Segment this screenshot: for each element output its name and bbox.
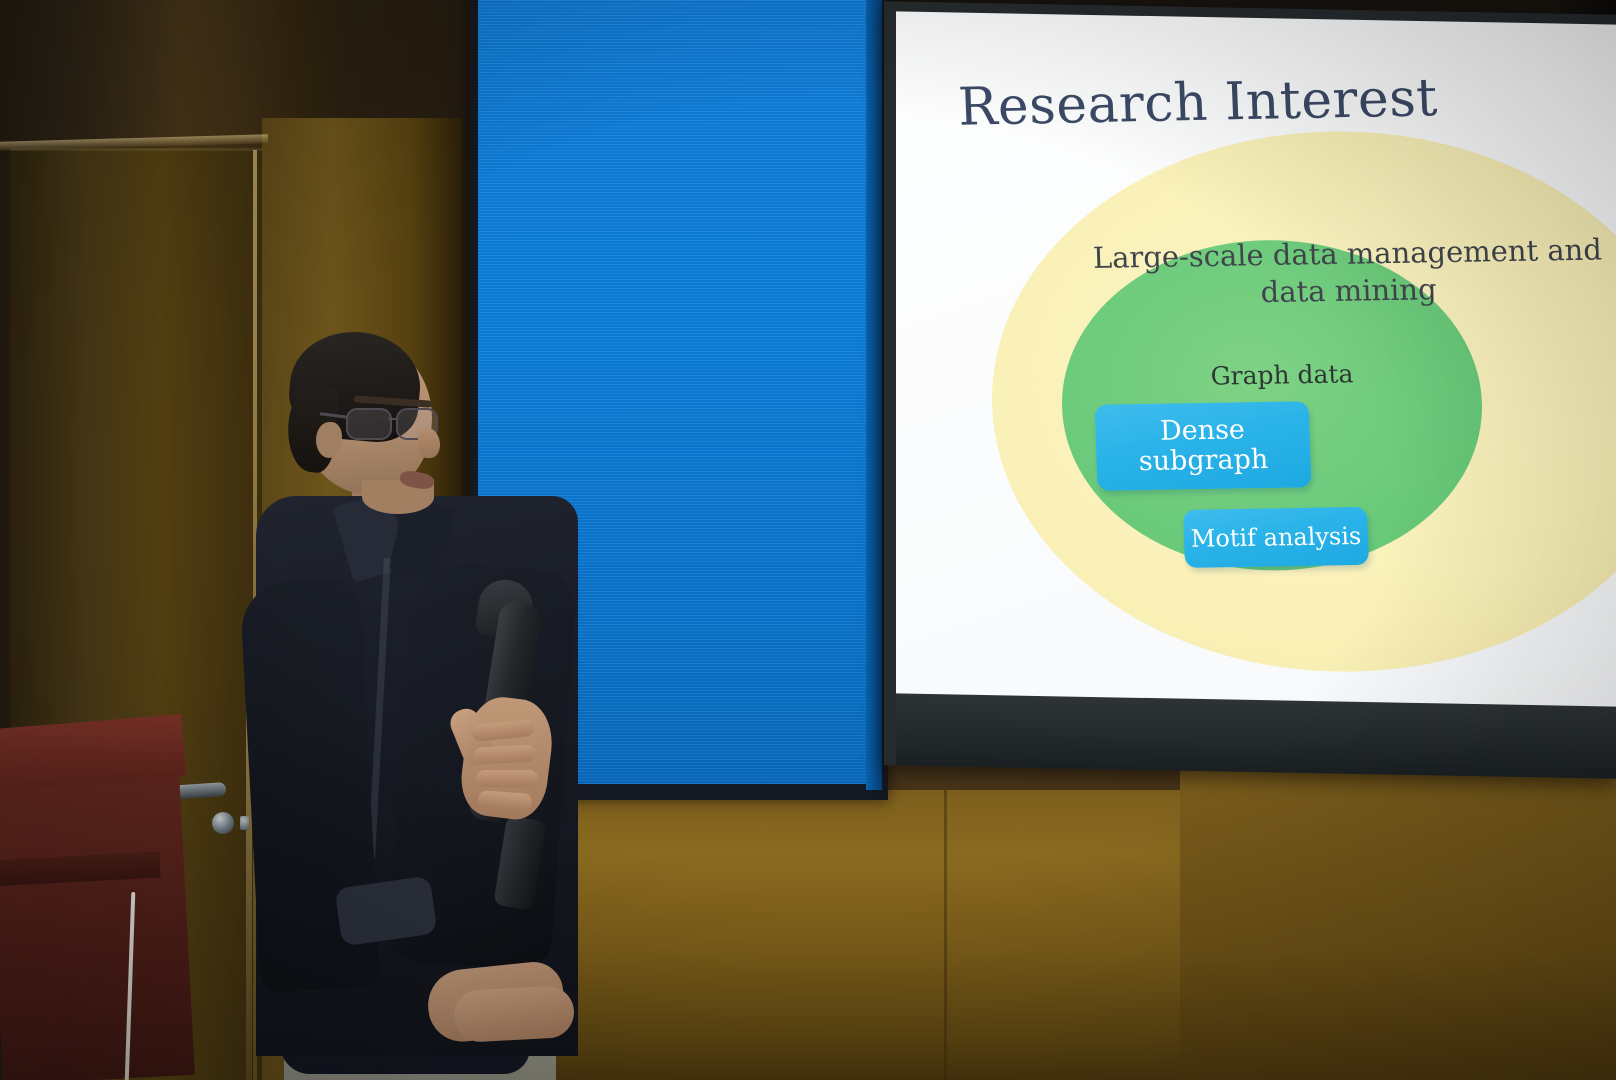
eyeglass-bridge <box>388 418 398 420</box>
speaker-ear <box>316 422 342 458</box>
speaker <box>250 330 590 1080</box>
speaker-finger <box>474 744 537 764</box>
motif-analysis-label: Motif analysis <box>1190 522 1361 553</box>
door-knob[interactable] <box>212 812 234 834</box>
outer-ellipse-label: Large-scale data management and data min… <box>1047 231 1616 315</box>
door-lock[interactable] <box>240 816 249 830</box>
screen-bottom-frame <box>896 693 1616 778</box>
presentation-scene: 1920 HIT 规格严格 功夫到家 Research Interest Lar… <box>0 0 1616 1080</box>
speaker-lower-hand-fingers <box>453 985 576 1043</box>
far-right-wall <box>1180 760 1616 1080</box>
dense-subgraph-line2: subgraph <box>1138 444 1269 477</box>
inner-ellipse-label: Graph data <box>1132 358 1433 392</box>
speaker-finger <box>476 770 538 787</box>
banner-right-edge <box>866 0 882 790</box>
motif-analysis-box: Motif analysis <box>1183 507 1369 568</box>
dense-subgraph-box: Dense subgraph <box>1095 401 1312 491</box>
dense-subgraph-line1: Dense <box>1159 414 1245 446</box>
slide: Research Interest Large-scale data manag… <box>896 11 1616 724</box>
slide-title: Research Interest <box>957 68 1439 138</box>
eyeglass-lens-left <box>346 408 392 440</box>
projection-screen: Research Interest Large-scale data manag… <box>896 11 1616 724</box>
outer-ellipse-label-line1: Large-scale data management and <box>1092 232 1602 274</box>
